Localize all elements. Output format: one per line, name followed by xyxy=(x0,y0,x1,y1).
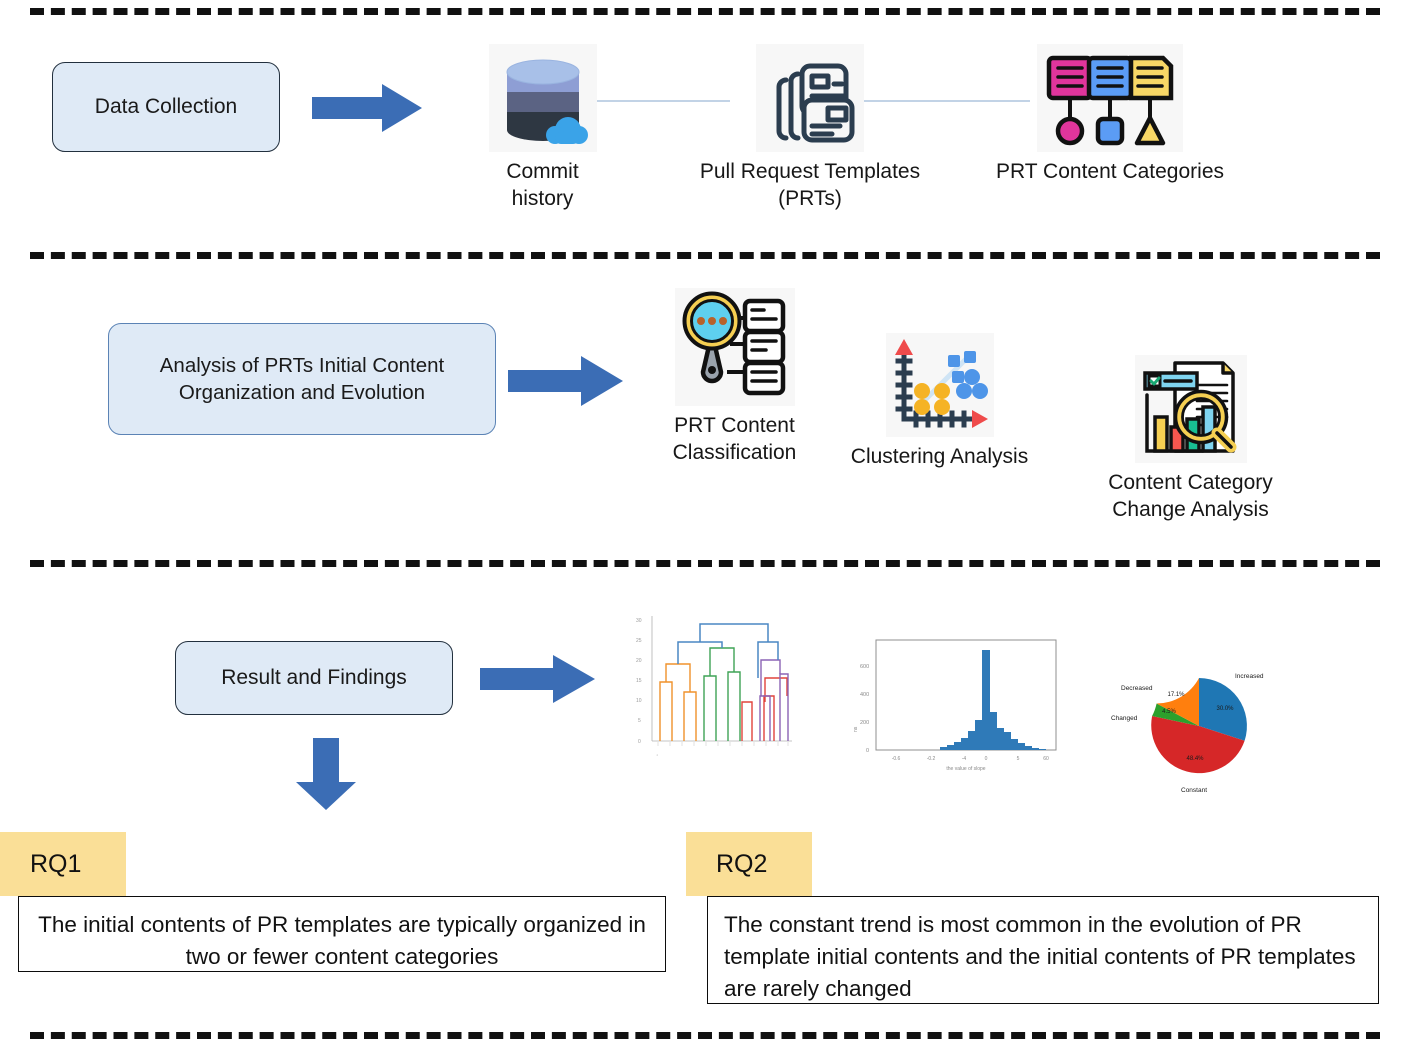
svg-text:Increased: Increased xyxy=(1235,673,1264,680)
svg-text:17.1%: 17.1% xyxy=(1167,692,1185,698)
pie-chart-thumbnail: 30.0% 48.4% 4.5% 17.1% Increased Constan… xyxy=(1110,648,1288,800)
histogram-thumbnail: 0200 400600 ns -0.6-0.2 -40 560 the va xyxy=(848,628,1070,776)
step-prt-content-categories[interactable]: PRT Content Categories xyxy=(960,44,1260,186)
step-caption: Content Category Change Analysis xyxy=(1108,470,1273,524)
svg-text:-4: -4 xyxy=(962,756,967,762)
svg-text:Changed: Changed xyxy=(1111,715,1138,722)
step-prt-content-classification[interactable]: PRT Content Classification xyxy=(632,288,837,467)
svg-text:Constant: Constant xyxy=(1181,787,1207,794)
arrow-right-icon xyxy=(312,84,422,132)
categories-nodes-icon xyxy=(1037,44,1183,152)
arrow-down-icon xyxy=(296,738,356,810)
arrow-right-icon xyxy=(508,356,623,406)
section-divider-1 xyxy=(30,252,1380,259)
step-commit-history[interactable]: Commit history xyxy=(470,44,615,213)
scatter-axes-icon xyxy=(886,333,994,437)
database-cloud-icon xyxy=(489,44,597,152)
svg-text:0: 0 xyxy=(985,756,988,762)
arrow-right-icon xyxy=(480,655,595,703)
stage-box-results[interactable]: Result and Findings xyxy=(175,641,453,715)
svg-text:the value of slope: the value of slope xyxy=(946,766,985,772)
step-caption: Pull Request Templates (PRTs) xyxy=(700,159,920,213)
report-barchart-magnifier-icon xyxy=(1135,355,1247,463)
step-clustering-analysis[interactable]: Clustering Analysis xyxy=(832,333,1047,471)
svg-text:400: 400 xyxy=(860,692,869,698)
diagram-canvas: Data Collection Commit history xyxy=(0,0,1405,1058)
svg-text:200: 200 xyxy=(860,720,869,726)
section-divider-top xyxy=(30,8,1380,15)
svg-text:30.0%: 30.0% xyxy=(1216,706,1234,712)
svg-text:0: 0 xyxy=(638,739,641,745)
rq2-statement: The constant trend is most common in the… xyxy=(707,896,1379,1004)
svg-text:5: 5 xyxy=(1017,756,1020,762)
svg-text:48.4%: 48.4% xyxy=(1186,756,1204,762)
step-caption: Clustering Analysis xyxy=(851,444,1028,471)
svg-text:10: 10 xyxy=(636,698,642,704)
svg-text:20: 20 xyxy=(636,658,642,664)
svg-text:-0.6: -0.6 xyxy=(892,756,901,762)
section-divider-2 xyxy=(30,560,1380,567)
step-caption: PRT Content Classification xyxy=(673,413,797,467)
step-caption: PRT Content Categories xyxy=(996,159,1224,186)
step-pull-request-templates[interactable]: Pull Request Templates (PRTs) xyxy=(665,44,955,213)
documents-stack-icon xyxy=(756,44,864,152)
svg-text:600: 600 xyxy=(860,664,869,670)
svg-text:60: 60 xyxy=(1043,756,1049,762)
svg-text:Decreased: Decreased xyxy=(1121,685,1153,692)
svg-text:0: 0 xyxy=(866,748,869,754)
svg-text:5: 5 xyxy=(638,718,641,724)
section-divider-bottom xyxy=(30,1032,1380,1039)
rq1-statement: The initial contents of PR templates are… xyxy=(18,896,666,972)
svg-text:25: 25 xyxy=(636,638,642,644)
svg-text:30: 30 xyxy=(636,618,642,624)
svg-text:4.5%: 4.5% xyxy=(1162,709,1176,715)
stage-box-analysis[interactable]: Analysis of PRTs Initial Content Organiz… xyxy=(108,323,496,435)
rq2-tab[interactable]: RQ2 xyxy=(686,832,812,896)
step-content-category-change-analysis[interactable]: Content Category Change Analysis xyxy=(1048,355,1333,524)
step-caption: Commit history xyxy=(506,159,578,213)
rq1-tab[interactable]: RQ1 xyxy=(0,832,126,896)
stage-box-data-collection[interactable]: Data Collection xyxy=(52,62,280,152)
magnifier-list-icon xyxy=(675,288,795,406)
svg-text:15: 15 xyxy=(636,678,642,684)
dendrogram-thumbnail: 0510 152025 30 xyxy=(628,606,798,766)
svg-text:ns: ns xyxy=(853,726,859,732)
svg-text:-0.2: -0.2 xyxy=(927,756,936,762)
